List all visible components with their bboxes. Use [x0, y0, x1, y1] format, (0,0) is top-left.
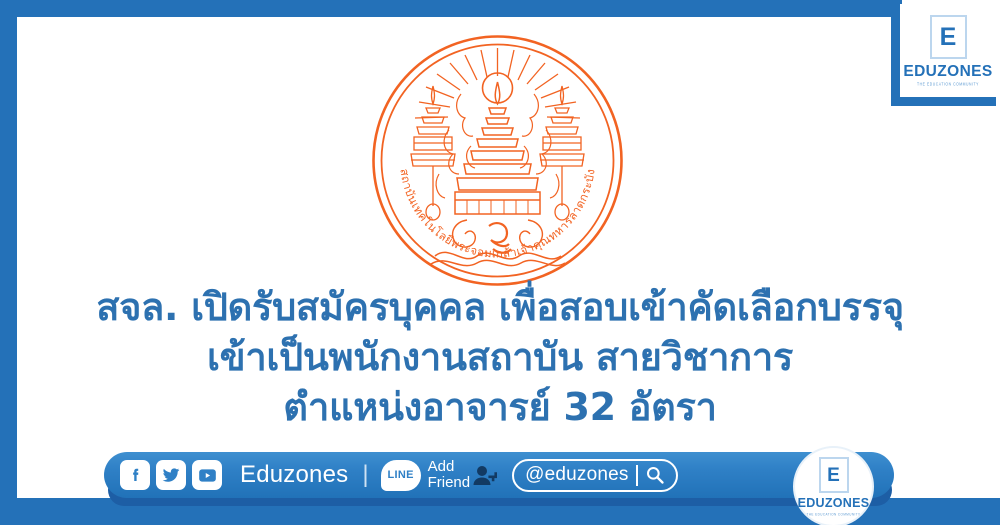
line-label: LINE — [387, 469, 413, 481]
headline-line-2: เข้าเป็นพนักงานสถาบัน สายวิชาการ — [0, 332, 1000, 382]
line-add-friend-label[interactable]: Add Friend — [428, 459, 471, 491]
headline-line-3: ตำแหน่งอาจารย์ 32 อัตรา — [0, 382, 1000, 432]
twitter-icon[interactable] — [156, 460, 186, 490]
eduzones-e-mark: E — [930, 15, 967, 59]
social-bar-brand: Eduzones — [240, 461, 348, 489]
round-badge-wordmark: EDUZONES — [798, 497, 870, 510]
page-title: สจล. เปิดรับสมัครบุคคล เพื่อสอบเข้าคัดเล… — [0, 282, 1000, 432]
frame-top-bar — [0, 0, 902, 17]
round-badge-e-letter: E — [827, 466, 840, 485]
youtube-icon[interactable] — [192, 460, 222, 490]
eduzones-logo-card: E EDUZONES THE EDUCATION COMMUNITY — [891, 4, 996, 106]
eduzones-e-letter: E — [940, 25, 957, 50]
add-friend-line-2: Friend — [428, 475, 471, 491]
add-friend-line-1: Add — [428, 459, 471, 475]
facebook-icon[interactable] — [120, 460, 150, 490]
kmitl-emblem: สถาบันเทคโนโลยีพระจอมเกล้าเจ้าคุณทหารลาด… — [371, 34, 624, 287]
social-bar-separator: | — [362, 461, 368, 489]
search-input[interactable]: @eduzones — [512, 459, 678, 492]
search-divider — [636, 465, 638, 486]
search-icon[interactable] — [645, 465, 665, 485]
eduzones-wordmark: EDUZONES — [903, 64, 992, 80]
round-badge-tagline: THE EDUCATION COMMUNITY — [807, 511, 861, 516]
search-handle-text: @eduzones — [525, 464, 629, 486]
headline-line-1: สจล. เปิดรับสมัครบุคคล เพื่อสอบเข้าคัดเล… — [0, 282, 1000, 332]
poster-canvas: E EDUZONES THE EDUCATION COMMUNITY — [0, 0, 1000, 525]
round-badge-e-mark: E — [819, 457, 849, 493]
eduzones-round-badge: E EDUZONES THE EDUCATION COMMUNITY — [793, 446, 874, 525]
add-person-icon[interactable] — [472, 463, 498, 492]
line-icon[interactable]: LINE — [381, 460, 421, 491]
social-bar: Eduzones | LINE Add Friend @eduzones — [104, 452, 894, 498]
eduzones-tagline: THE EDUCATION COMMUNITY — [917, 81, 979, 86]
